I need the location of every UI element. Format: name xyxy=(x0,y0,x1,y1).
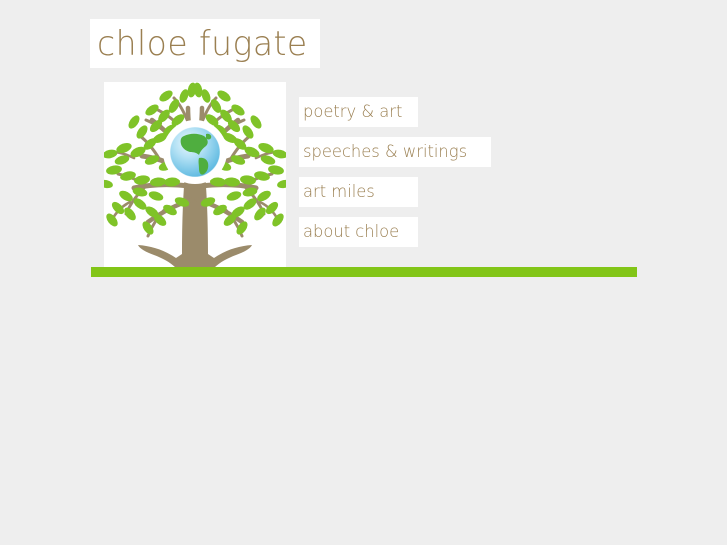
page-root: chloe fugate xyxy=(0,0,727,545)
green-accent-bar xyxy=(91,267,637,277)
main-navigation: poetry & art speeches & writings art mil… xyxy=(299,97,499,257)
nav-item-label: about chloe xyxy=(303,224,399,241)
nav-item-art-miles[interactable]: art miles xyxy=(299,177,418,207)
nav-item-about-chloe[interactable]: about chloe xyxy=(299,217,418,247)
site-title-block[interactable]: chloe fugate xyxy=(90,19,320,68)
page-title: chloe fugate xyxy=(97,27,308,61)
nav-item-label: poetry & art xyxy=(303,104,402,121)
nav-item-label: art miles xyxy=(303,184,375,201)
nav-item-poetry-art[interactable]: poetry & art xyxy=(299,97,418,127)
nav-item-label: speeches & writings xyxy=(303,144,467,161)
tree-with-globe-icon xyxy=(104,82,286,268)
nav-item-speeches-writings[interactable]: speeches & writings xyxy=(299,137,491,167)
logo-block[interactable] xyxy=(104,82,286,268)
